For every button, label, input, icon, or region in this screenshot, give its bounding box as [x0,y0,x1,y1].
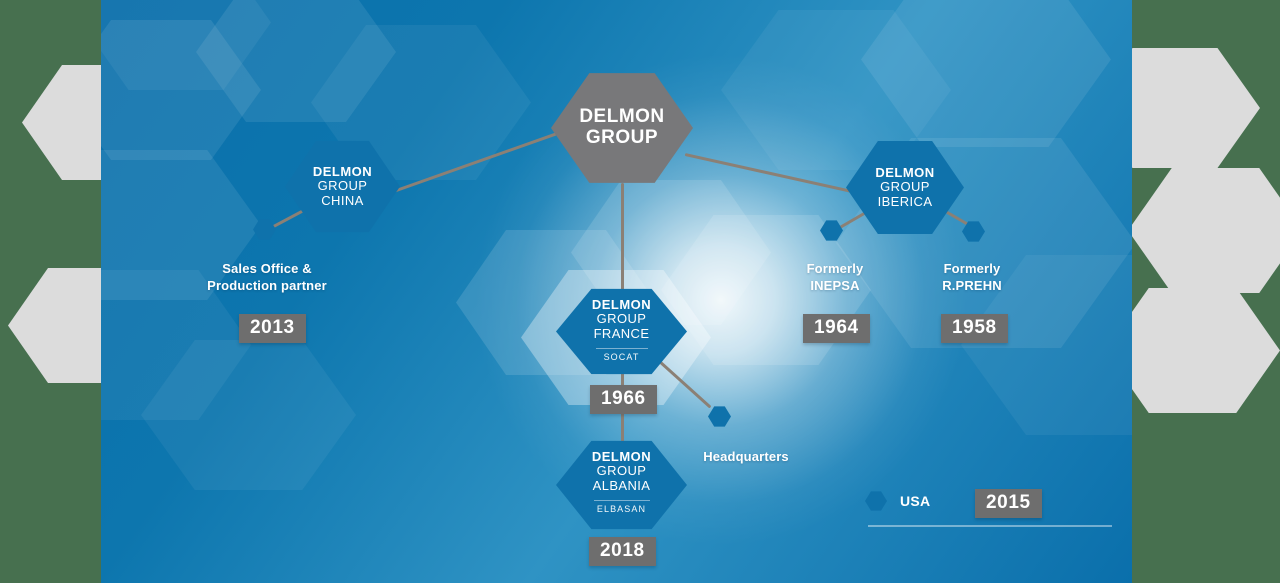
node-albania-city: ELBASAN [597,504,646,514]
year-badge-france: 1966 [590,385,657,414]
node-france-sub: GROUP [597,312,647,327]
node-france-city: SOCAT [604,352,640,362]
node-france-divider [596,348,648,349]
caption-headquarters-text: Headquarters [675,448,817,465]
caption-rprehn: Formerly R.PREHN [906,260,1038,294]
caption-inepsa: Formerly INEPSA [769,260,901,294]
node-albania-sub2: ALBANIA [593,479,651,494]
node-albania-sub: GROUP [597,464,647,479]
node-albania-brand: DELMON [592,450,651,464]
caption-china-line2: Production partner [176,277,358,294]
year-badge-albania: 2018 [589,537,656,566]
node-root-brand: DELMON [579,107,664,128]
caption-china-line1: Sales Office & [176,260,358,277]
caption-inepsa-line1: Formerly [769,260,901,277]
caption-rprehn-line1: Formerly [906,260,1038,277]
year-badge-china: 2013 [239,314,306,343]
outer-hex-right-mid [1128,168,1280,293]
node-china-sub: GROUP [318,179,368,194]
node-delmon-group-france[interactable]: DELMON GROUP FRANCE SOCAT [556,288,687,375]
node-delmon-group-root[interactable]: DELMON GROUP [551,72,693,184]
caption-china: Sales Office & Production partner [176,260,358,294]
year-badge-rprehn: 1958 [941,314,1008,343]
node-iberica-brand: DELMON [875,166,934,180]
legend-usa-label: USA [900,493,930,509]
diagram-canvas: DELMON GROUP DELMON GROUP CHINA DELMON G… [0,0,1280,583]
caption-headquarters: Headquarters [675,448,817,465]
caption-inepsa-line2: INEPSA [769,277,901,294]
connector-root-france [621,183,624,296]
year-badge-inepsa: 1964 [803,314,870,343]
node-france-brand: DELMON [592,298,651,312]
node-iberica-sub2: IBERICA [878,195,933,210]
node-china-brand: DELMON [313,165,372,179]
node-delmon-group-china[interactable]: DELMON GROUP CHINA [285,140,400,233]
node-france-sub2: FRANCE [594,327,650,342]
node-china-sub2: CHINA [321,194,363,209]
legend-divider [868,525,1112,527]
node-delmon-group-iberica[interactable]: DELMON GROUP IBERICA [846,140,964,235]
legend-usa-hex-icon [865,491,887,511]
year-badge-usa: 2015 [975,489,1042,518]
caption-rprehn-line2: R.PREHN [906,277,1038,294]
node-albania-divider [594,500,650,501]
node-root-sub: GROUP [586,128,658,149]
node-iberica-sub: GROUP [880,180,930,195]
node-delmon-group-albania[interactable]: DELMON GROUP ALBANIA ELBASAN [556,440,687,530]
legend-usa: USA [865,491,930,511]
